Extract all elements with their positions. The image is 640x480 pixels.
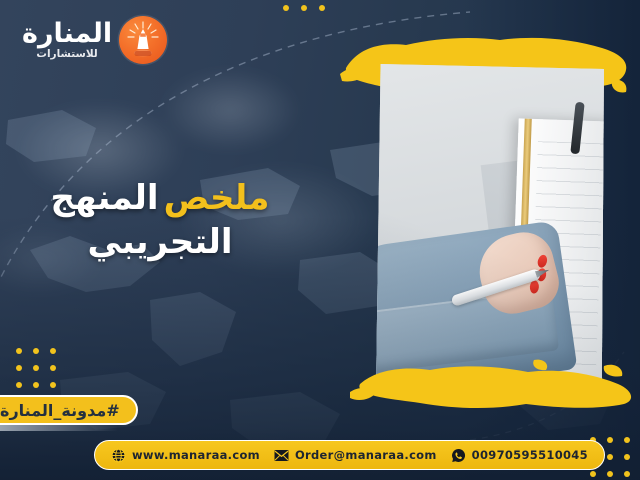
dot — [16, 365, 22, 371]
dot — [283, 5, 289, 11]
headline-line-2: التجريبي — [10, 220, 310, 264]
logo-wordmark: المنارة للاستشارات — [22, 20, 112, 60]
whatsapp-icon — [451, 448, 466, 463]
headline: ملخص المنهج التجريبي — [10, 176, 310, 264]
brand-logo[interactable]: المنارة للاستشارات — [22, 16, 167, 64]
globe-icon — [111, 448, 126, 463]
photo-hand-writing-notebook — [376, 64, 604, 394]
contact-website[interactable]: www.manaraa.com — [111, 448, 260, 463]
dot — [607, 471, 613, 477]
headline-accent-word: ملخص — [164, 178, 270, 218]
contact-phone[interactable]: 00970595510045 — [451, 448, 588, 463]
brush-stroke-bottom — [350, 358, 638, 410]
dot — [33, 382, 39, 388]
contact-bar: www.manaraa.com Order@manaraa.com 009705… — [94, 440, 605, 470]
dot — [590, 471, 596, 477]
headline-word-2: المنهج — [51, 178, 159, 218]
dot — [33, 348, 39, 354]
dot — [624, 471, 630, 477]
envelope-icon — [274, 448, 289, 463]
photo-shading — [376, 64, 604, 394]
contact-email-label: Order@manaraa.com — [295, 448, 437, 462]
dot — [319, 5, 325, 11]
photo-composition — [368, 36, 616, 396]
hashtag-label: #مدونة_المنارة — [0, 401, 120, 420]
logo-subtitle: للاستشارات — [22, 49, 112, 60]
dot — [624, 454, 630, 460]
dot — [50, 382, 56, 388]
dot — [301, 5, 307, 11]
edge-highlight-strip — [0, 424, 118, 431]
dot — [33, 365, 39, 371]
dot — [607, 454, 613, 460]
contact-email[interactable]: Order@manaraa.com — [274, 448, 437, 463]
dot — [607, 437, 613, 443]
dot — [624, 437, 630, 443]
dot — [50, 365, 56, 371]
dots-lower-left — [16, 348, 56, 388]
poster: المنارة للاستشارات ملخص المنهج التجريبي — [0, 0, 640, 480]
hashtag-badge[interactable]: #مدونة_المنارة — [0, 395, 138, 425]
lighthouse-icon — [119, 16, 167, 64]
dot — [16, 348, 22, 354]
headline-word-3: التجريبي — [88, 222, 233, 262]
dot — [16, 382, 22, 388]
contact-phone-label: 00970595510045 — [472, 448, 588, 462]
logo-title: المنارة — [22, 20, 112, 47]
contact-website-label: www.manaraa.com — [132, 448, 260, 462]
dots-top-center — [283, 5, 325, 11]
dot — [50, 348, 56, 354]
headline-line-1: ملخص المنهج — [10, 176, 310, 220]
